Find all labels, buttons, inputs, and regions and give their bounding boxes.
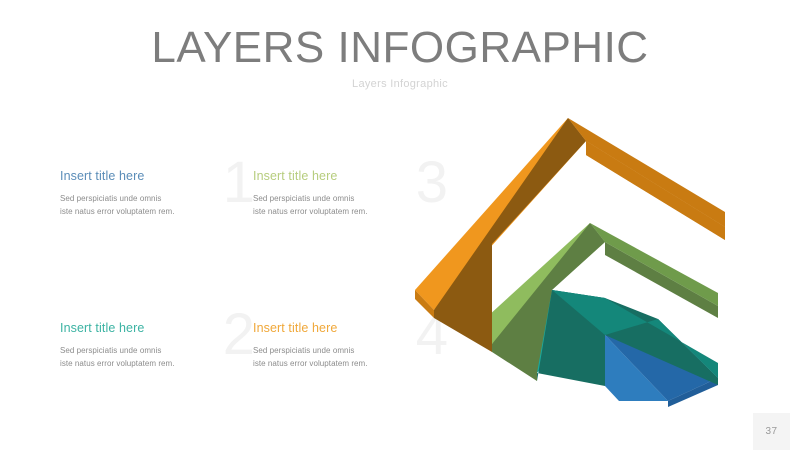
item-1-title: Insert title here bbox=[60, 168, 255, 184]
item-2-title: Insert title here bbox=[60, 320, 255, 336]
item-4-title: Insert title here bbox=[253, 320, 448, 336]
item-3-title: Insert title here bbox=[253, 168, 448, 184]
info-item-2[interactable]: 2 Insert title here Sed perspiciatis und… bbox=[60, 320, 255, 390]
item-4-body: Sed perspiciatis unde omnis iste natus e… bbox=[253, 345, 448, 370]
green-layer-right-top bbox=[590, 223, 718, 306]
orange-layer-right-top bbox=[568, 118, 725, 227]
info-item-1[interactable]: 1 Insert title here Sed perspiciatis und… bbox=[60, 168, 255, 238]
slide-canvas: LAYERS INFOGRAPHIC Layers Infographic 1 … bbox=[0, 0, 800, 450]
page-number-badge: 37 bbox=[753, 413, 790, 450]
page-subtitle: Layers Infographic bbox=[0, 77, 800, 91]
layers-3d-chevron-graphic bbox=[400, 105, 740, 410]
orange-layer-right-shadow bbox=[586, 141, 725, 240]
page-number-text: 37 bbox=[766, 426, 778, 437]
item-3-body: Sed perspiciatis unde omnis iste natus e… bbox=[253, 193, 448, 218]
item-1-body: Sed perspiciatis unde omnis iste natus e… bbox=[60, 193, 255, 218]
page-title: LAYERS INFOGRAPHIC bbox=[0, 22, 800, 74]
item-2-body: Sed perspiciatis unde omnis iste natus e… bbox=[60, 345, 255, 370]
